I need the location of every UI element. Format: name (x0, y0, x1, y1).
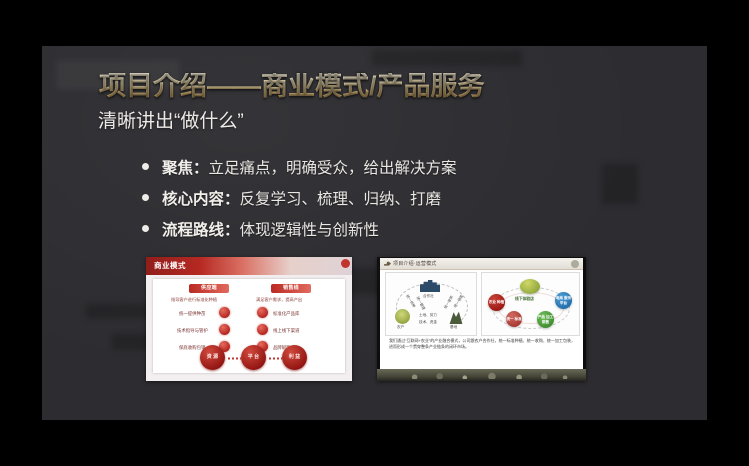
rocks-decoration (377, 370, 586, 379)
summary-circle: 资 源 (200, 345, 225, 370)
ecosystem-node-processing: 产品 加工销售 (537, 311, 554, 328)
corner-dot-icon (341, 259, 350, 268)
list-item: 核心内容： 反复学习、梳理、归纳、打磨 (142, 187, 612, 209)
cooperative-building-icon (420, 280, 440, 292)
flag-icon (384, 261, 391, 267)
list-item: 聚焦： 立足痛点，明确受众，给出解决方案 (142, 156, 612, 178)
background-ghost-shape (372, 50, 522, 66)
bullet-list: 聚焦： 立足痛点，明确受众，给出解决方案 核心内容： 反复学习、梳理、归纳、打磨… (142, 156, 612, 249)
column-item-badge (257, 324, 268, 335)
summary-circle: 利 益 (282, 345, 307, 370)
column-item-badge (219, 307, 230, 318)
logo-icon (571, 260, 579, 268)
ecosystem-node-tourism (520, 279, 540, 294)
column-pill-sales: 销售线 (271, 284, 311, 293)
bullet-lead: 流程路线： (162, 218, 240, 240)
column-caption: 指导客户进行标准化种植 (171, 297, 217, 303)
thumbnail-page: 项目介绍·运营模式 合作社 农户 基地 土地、劳力 技术、资金 (380, 258, 583, 370)
bullet-body: 立足痛点，明确受众，给出解决方案 (209, 156, 457, 178)
thumbnail-title-band: 商业模式 (146, 257, 352, 275)
column-item-label: 线上线下渠道 (273, 328, 299, 334)
thumbnail-business-model[interactable]: 商业模式 供应端 指导客户进行标准化种植 统一提供种苗 技术指导与管护 保底收购… (146, 257, 352, 381)
bullet-dot-icon (142, 225, 149, 232)
summary-circle: 平 台 (241, 345, 266, 370)
flow-label: 土地、劳力 (419, 313, 437, 318)
bullet-body: 体现逻辑性与创新性 (240, 218, 380, 240)
ecosystem-node-planting: 农业 种植 (488, 294, 505, 311)
ecosystem-node-ecommerce: 电商 服务平台 (555, 292, 572, 309)
thumbnail-row: 商业模式 供应端 指导客户进行标准化种植 统一提供种苗 技术指导与管护 保底收购… (146, 257, 606, 383)
presentation-slide: 项目介绍——商业模式/产品服务 清晰讲出“做什么” 聚焦： 立足痛点，明确受众，… (42, 46, 707, 420)
connector-dots (227, 357, 241, 360)
ecosystem-node-standard: 统一 标准 (506, 311, 522, 327)
connector-dots (268, 357, 282, 360)
column-caption: 满足客户需求，提高产出 (256, 297, 302, 303)
flow-label: 技术、资金 (419, 320, 437, 325)
thumbnail-header-bar: 项目介绍·运营模式 (380, 258, 583, 270)
bullet-dot-icon (142, 163, 149, 170)
node-label-left: 农户 (397, 325, 404, 330)
column-item-label: 技术指导与管护 (177, 328, 208, 334)
bullet-lead: 核心内容： (162, 187, 240, 209)
column-item-badge (219, 324, 230, 335)
thumbnail-operation-model[interactable]: 项目介绍·运营模式 合作社 农户 基地 土地、劳力 技术、资金 (377, 257, 586, 381)
column-item-badge (257, 307, 268, 318)
thumbnail-header-title: 项目介绍·运营模式 (393, 260, 436, 267)
screenshot-root: 项目介绍——商业模式/产品服务 清晰讲出“做什么” 聚焦： 立足痛点，明确受众，… (0, 0, 749, 466)
thumbnail-caption: 我们通过“互联网+农业”的产业融合模式，公司跟农户合作社，统一标准种植、统一收购… (389, 338, 575, 350)
farmer-icon (395, 309, 410, 324)
column-item-label: 统一提供种苗 (179, 311, 205, 317)
center-label: 线下体验店 (515, 297, 534, 302)
page-subtitle: 清晰讲出“做什么” (98, 112, 244, 131)
thumbnail-card: 供应端 指导客户进行标准化种植 统一提供种苗 技术指导与管护 保底收购包销 销售… (153, 279, 345, 373)
column-item-label: 标准化产品库 (273, 311, 299, 317)
column-pill-supply: 供应端 (189, 284, 229, 293)
node-label-top: 合作社 (423, 294, 434, 299)
panel-ecosystem-diagram: 线下体验店 农业 种植 统一 标准 产品 加工销售 电商 服务平台 (481, 272, 580, 336)
page-title: 项目介绍——商业模式/产品服务 (99, 73, 485, 100)
thumbnail-title: 商业模式 (154, 260, 186, 271)
bullet-dot-icon (142, 194, 149, 201)
panel-cooperative-diagram: 合作社 农户 基地 土地、劳力 技术、资金 统一供种 统一管理 统一收购 统一销… (385, 272, 477, 336)
bullet-lead: 聚焦： (162, 156, 209, 178)
node-label-right: 基地 (450, 325, 457, 330)
bullet-body: 反复学习、梳理、归纳、打磨 (240, 187, 442, 209)
list-item: 流程路线： 体现逻辑性与创新性 (142, 218, 612, 240)
